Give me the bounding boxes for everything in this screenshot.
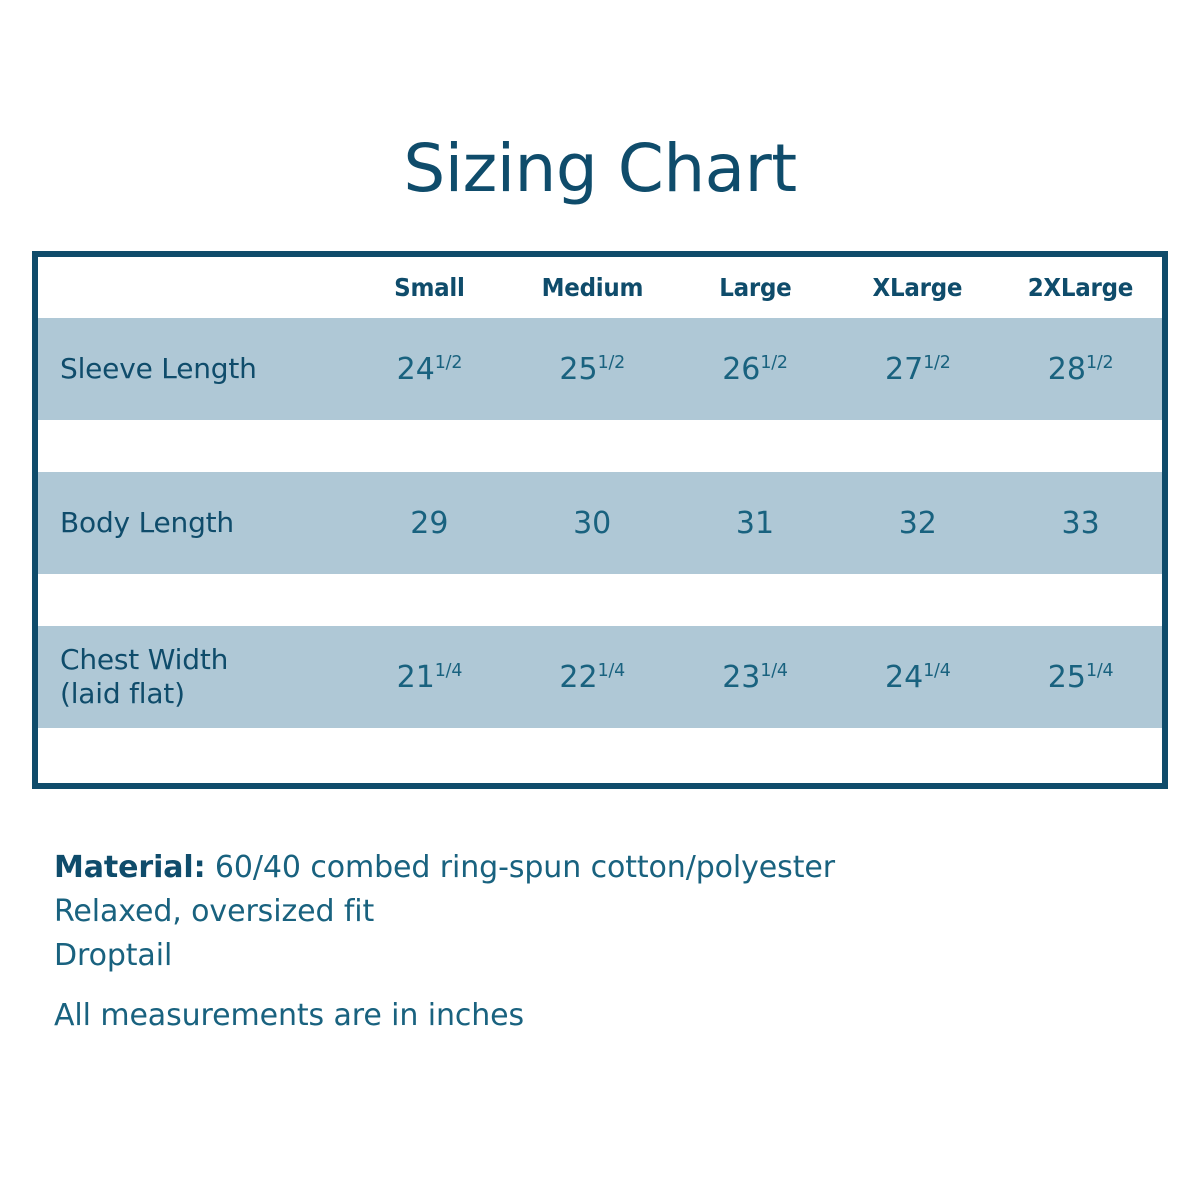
cell-whole: 33 [1061,506,1099,541]
cell-chest-xlarge: 241/4 [836,660,999,695]
cell-sleeve-large: 261/2 [674,352,837,387]
cell-body-2xlarge: 33 [999,506,1162,541]
cell-chest-small: 211/4 [348,660,511,695]
column-header-medium: Medium [517,273,667,302]
cell-fraction: 1/4 [923,661,950,681]
cell-whole: 28 [1048,352,1086,387]
footer-material-label: Material: [54,850,206,885]
cell-sleeve-medium: 251/2 [511,352,674,387]
cell-body-large: 31 [674,506,837,541]
row-label-chest-width: Chest Width (laid flat) [38,643,348,711]
footer-hem-line: Droptail [54,934,1054,978]
page-title: Sizing Chart [0,136,1200,202]
column-header-2xlarge: 2XLarge [1006,273,1156,302]
cell-whole: 29 [410,506,448,541]
table-row: Body Length 29 30 31 32 33 [38,472,1162,574]
table-row: Sleeve Length 241/2 251/2 261/2 271/2 28… [38,318,1162,420]
cell-fraction: 1/2 [435,353,462,373]
cell-fraction: 1/4 [598,661,625,681]
footer-material-line: Material: 60/40 combed ring-spun cotton/… [54,846,1054,890]
cell-sleeve-small: 241/2 [348,352,511,387]
table-row: Chest Width (laid flat) 211/4 221/4 231/… [38,626,1162,728]
table-band-gap-1 [38,574,1162,626]
cell-fraction: 1/4 [1086,661,1113,681]
cell-whole: 26 [722,352,760,387]
column-header-large: Large [680,273,830,302]
cell-whole: 24 [885,660,923,695]
column-header-small: Small [355,273,505,302]
cell-whole: 21 [397,660,435,695]
table-band-gap-0 [38,420,1162,472]
cell-whole: 25 [559,352,597,387]
row-label-text: Body Length [60,506,234,539]
cell-body-xlarge: 32 [836,506,999,541]
footer-fit-line: Relaxed, oversized fit [54,890,1054,934]
column-header-xlarge: XLarge [843,273,993,302]
table-band-gap-2 [38,728,1162,783]
cell-fraction: 1/2 [760,353,787,373]
cell-whole: 25 [1048,660,1086,695]
cell-whole: 22 [559,660,597,695]
cell-body-small: 29 [348,506,511,541]
cell-chest-2xlarge: 251/4 [999,660,1162,695]
row-label-text: Sleeve Length [60,352,257,385]
cell-sleeve-xlarge: 271/2 [836,352,999,387]
footer-units-line: All measurements are in inches [54,994,1054,1038]
sizing-table: Small Medium Large XLarge 2XLarge Sleeve… [32,251,1168,789]
row-label-subtext: (laid flat) [60,677,348,711]
cell-chest-medium: 221/4 [511,660,674,695]
row-label-body-length: Body Length [38,506,348,540]
footer-material-value: 60/40 combed ring-spun cotton/polyester [206,850,835,885]
cell-whole: 23 [722,660,760,695]
cell-fraction: 1/2 [1086,353,1113,373]
cell-whole: 24 [397,352,435,387]
cell-fraction: 1/4 [435,661,462,681]
cell-fraction: 1/2 [598,353,625,373]
row-label-text: Chest Width [60,643,228,676]
cell-body-medium: 30 [511,506,674,541]
footer-notes: Material: 60/40 combed ring-spun cotton/… [54,846,1054,1038]
cell-whole: 27 [885,352,923,387]
cell-whole: 30 [573,506,611,541]
table-header-row: Small Medium Large XLarge 2XLarge [38,257,1162,318]
cell-whole: 31 [736,506,774,541]
cell-fraction: 1/2 [923,353,950,373]
cell-fraction: 1/4 [760,661,787,681]
cell-chest-large: 231/4 [674,660,837,695]
row-label-sleeve-length: Sleeve Length [38,352,348,386]
sizing-table-inner: Small Medium Large XLarge 2XLarge Sleeve… [38,257,1162,783]
cell-sleeve-2xlarge: 281/2 [999,352,1162,387]
cell-whole: 32 [899,506,937,541]
